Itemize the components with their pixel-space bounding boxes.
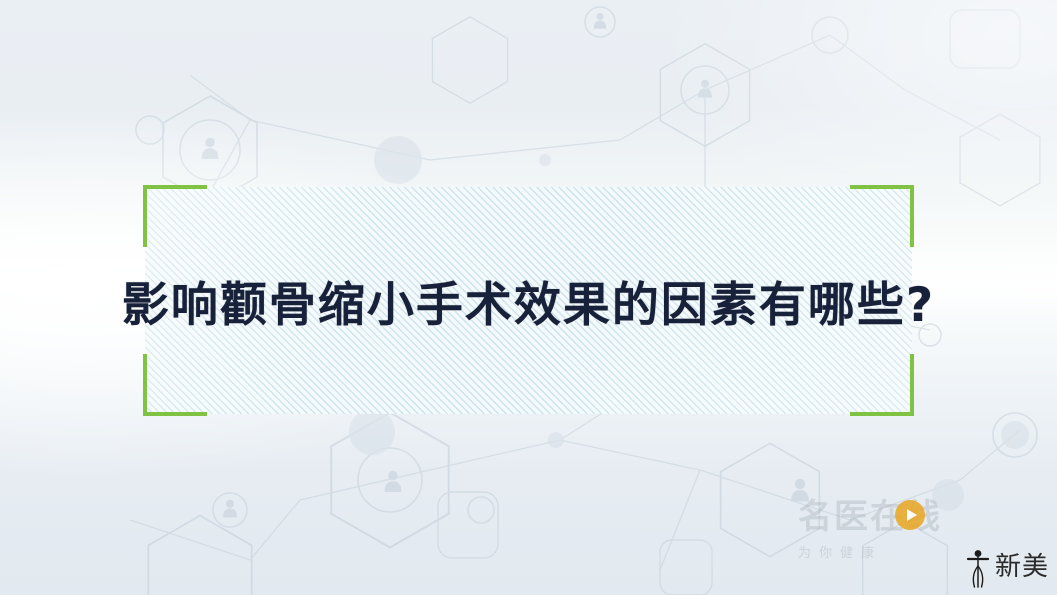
play-icon: [895, 500, 925, 530]
watermark-tagline: 为你健康: [798, 542, 983, 561]
title-slide: 影响颧骨缩小手术效果的因素有哪些? 名医在线 为你健康 新美: [0, 0, 1057, 595]
brand-logo: 新美: [965, 547, 1049, 589]
watermark-brand: 名医在线: [798, 499, 983, 535]
headline-container: 影响颧骨缩小手术效果的因素有哪些?: [145, 187, 912, 414]
title-banner: 影响颧骨缩小手术效果的因素有哪些?: [145, 187, 912, 414]
brand-logo-text: 新美: [995, 554, 1049, 582]
person-figure-icon: [965, 547, 991, 589]
watermark: 名医在线 为你健康: [798, 499, 983, 565]
page-title: 影响颧骨缩小手术效果的因素有哪些?: [122, 266, 935, 335]
watermark-brand-text: 名医在线: [798, 500, 942, 534]
